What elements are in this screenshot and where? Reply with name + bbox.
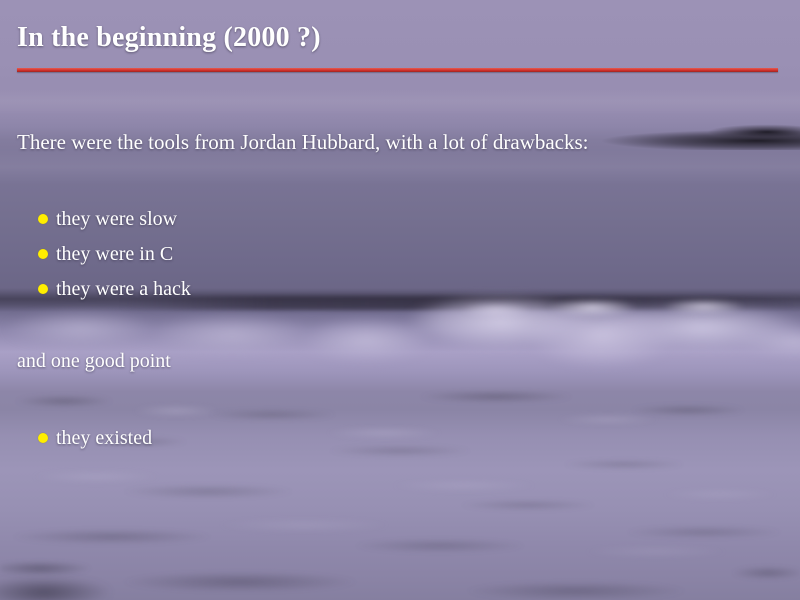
- list-item-label: they were slow: [56, 208, 177, 230]
- list-item-label: they existed: [56, 427, 152, 449]
- bullet-dot-icon: [38, 214, 48, 224]
- title-underline-rule: [17, 68, 778, 72]
- bullet-dot-icon: [38, 249, 48, 259]
- bullet-dot-icon: [38, 284, 48, 294]
- slide-lead-paragraph: There were the tools from Jordan Hubbard…: [17, 130, 589, 155]
- presentation-slide: In the beginning (2000 ?) There were the…: [0, 0, 800, 600]
- bullet-dot-icon: [38, 433, 48, 443]
- list-item: they were in C: [38, 241, 191, 276]
- slide-content: In the beginning (2000 ?) There were the…: [0, 0, 800, 600]
- drawbacks-bullet-list: they were slow they were in C they were …: [38, 206, 191, 311]
- slide-title: In the beginning (2000 ?): [17, 22, 321, 54]
- list-item: they existed: [38, 425, 152, 460]
- slide-midline-paragraph: and one good point: [17, 350, 171, 373]
- goodpoints-bullet-list: they existed: [38, 425, 152, 460]
- list-item: they were slow: [38, 206, 191, 241]
- list-item: they were a hack: [38, 276, 191, 311]
- list-item-label: they were a hack: [56, 278, 191, 300]
- list-item-label: they were in C: [56, 243, 173, 265]
